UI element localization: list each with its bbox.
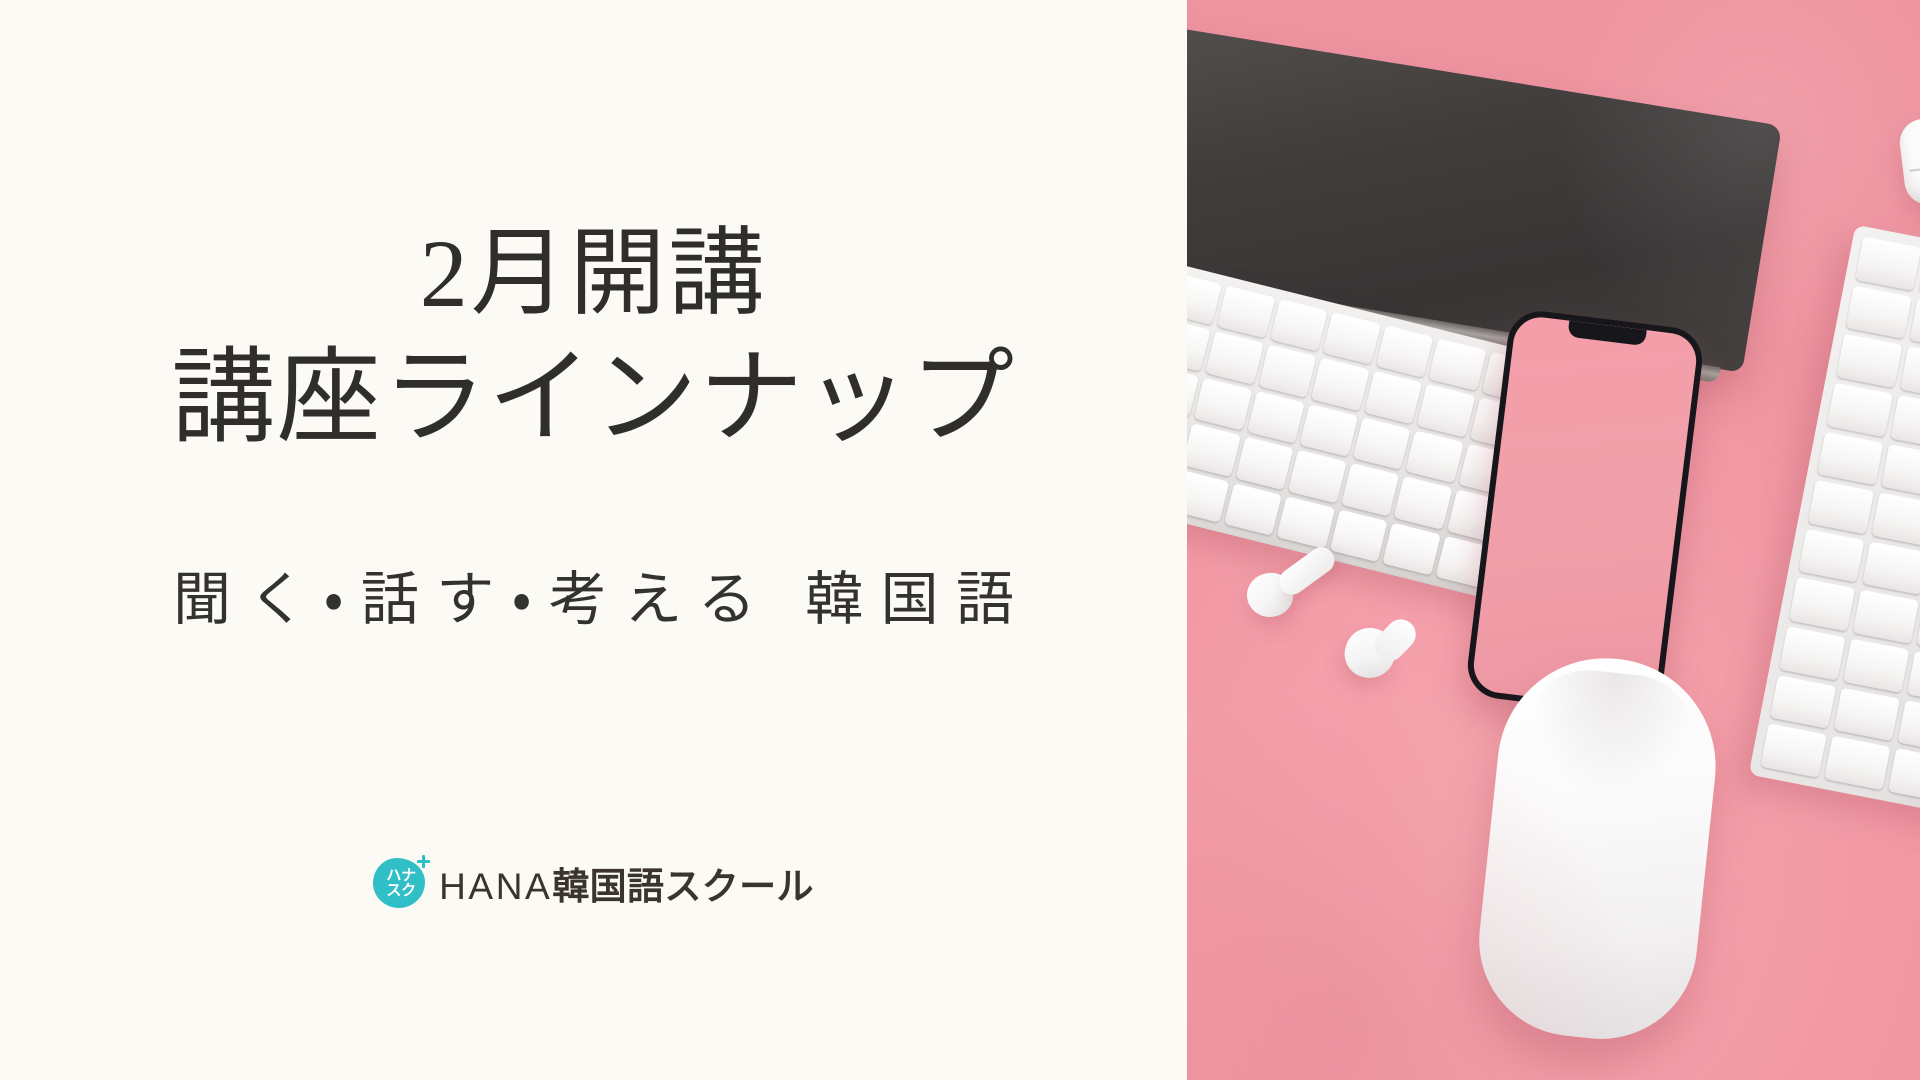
text-panel: 2月開講 講座ラインナップ 聞く・話す・考える 韓国語 ハナ スク HANA韓国… [0,0,1187,1080]
subheadline: 聞く・話す・考える 韓国語 [0,552,1187,636]
logo-wordmark-jp: 韓国語スクール [552,866,814,907]
desk-flatlay-photo [1187,0,1920,1080]
headline-line-2: 講座ラインナップ [0,339,1187,460]
headline-block: 2月開講 講座ラインナップ [0,218,1187,460]
course-lineup-banner: 2月開講 講座ラインナップ 聞く・話す・考える 韓国語 ハナ スク HANA韓国… [0,0,1920,1080]
logo-mark-line-1: ハナ [386,868,415,883]
logo-wordmark-latin: HANA [439,866,552,907]
sparkle-icon [417,855,430,868]
phone-screen [1471,314,1700,712]
earbud-left-image [1242,568,1298,623]
brand-logo[interactable]: ハナ スク HANA韓国語スクール [0,855,1187,911]
logo-mark-line-2: スク [386,883,415,898]
hana-logo-icon: ハナ スク [373,855,429,911]
logo-wordmark: HANA韓国語スクール [439,856,814,910]
mouse-image [1470,648,1727,1049]
earbud-right-stem [1368,613,1422,667]
airpods-case-image [1897,111,1920,208]
phone-notch [1567,321,1646,346]
headline-line-1: 2月開講 [0,218,1187,329]
keyboard-right-image [1749,225,1920,840]
earbud-right-image [1338,621,1401,684]
